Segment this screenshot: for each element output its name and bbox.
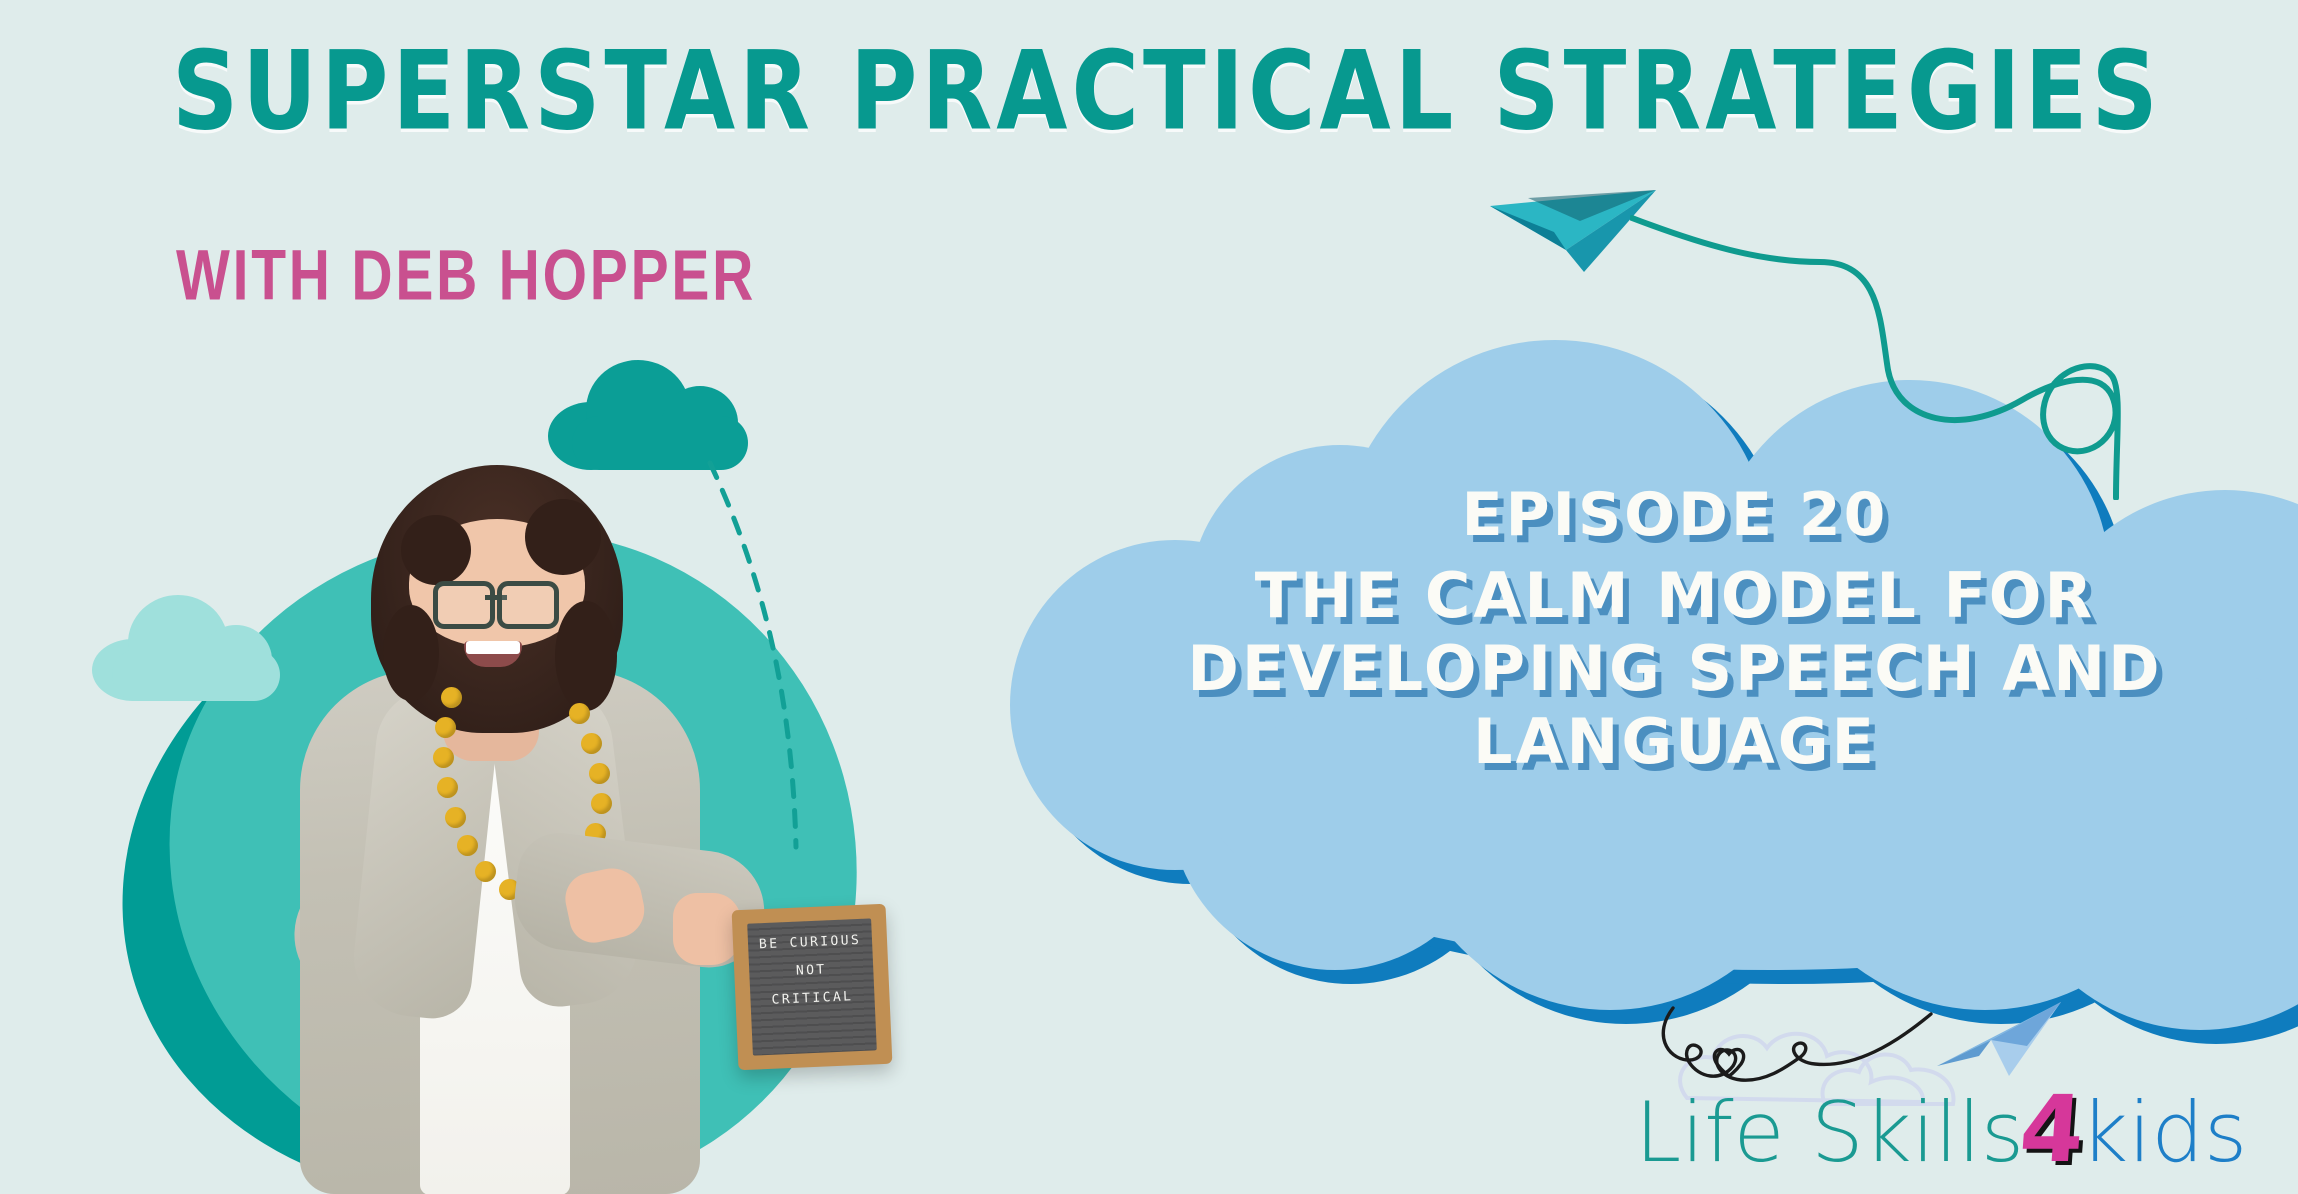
podcast-cover: EPISODE 20 THE CALM MODEL FOR DEVELOPING… bbox=[0, 0, 2298, 1194]
logo-text-four: 4 bbox=[2016, 1076, 2087, 1183]
logo-wordmark: Life Skills4kids bbox=[1635, 1076, 2247, 1183]
swirl-trail-icon bbox=[1630, 200, 2190, 500]
right-hand bbox=[673, 893, 741, 965]
hair-lock bbox=[525, 499, 601, 575]
episode-title-line-2: DEVELOPING SPEECH AND bbox=[1100, 632, 2250, 705]
brand-logo[interactable]: Life Skills4kids bbox=[1635, 1000, 2175, 1180]
episode-text-block: EPISODE 20 THE CALM MODEL FOR DEVELOPING… bbox=[1100, 480, 2250, 778]
cloud-teal-icon bbox=[548, 360, 768, 470]
logo-text-kids: kids bbox=[2080, 1084, 2247, 1181]
page-title: SUPERSTAR PRACTICAL STRATEGIES bbox=[172, 28, 2162, 154]
host-photo: BE CURIOUS NOT CRITICAL bbox=[215, 455, 775, 1194]
hair-lock bbox=[401, 515, 471, 585]
episode-title-line-3: LANGUAGE bbox=[1100, 705, 2250, 778]
page-subtitle: WITH DEB HOPPER bbox=[176, 235, 756, 317]
logo-text-life-skills: Life Skills bbox=[1635, 1084, 2024, 1181]
letterboard: BE CURIOUS NOT CRITICAL bbox=[732, 904, 893, 1071]
glasses-icon bbox=[433, 581, 559, 619]
episode-title-line-1: THE CALM MODEL FOR bbox=[1100, 559, 2250, 632]
paper-plane-icon bbox=[1935, 1000, 2065, 1078]
